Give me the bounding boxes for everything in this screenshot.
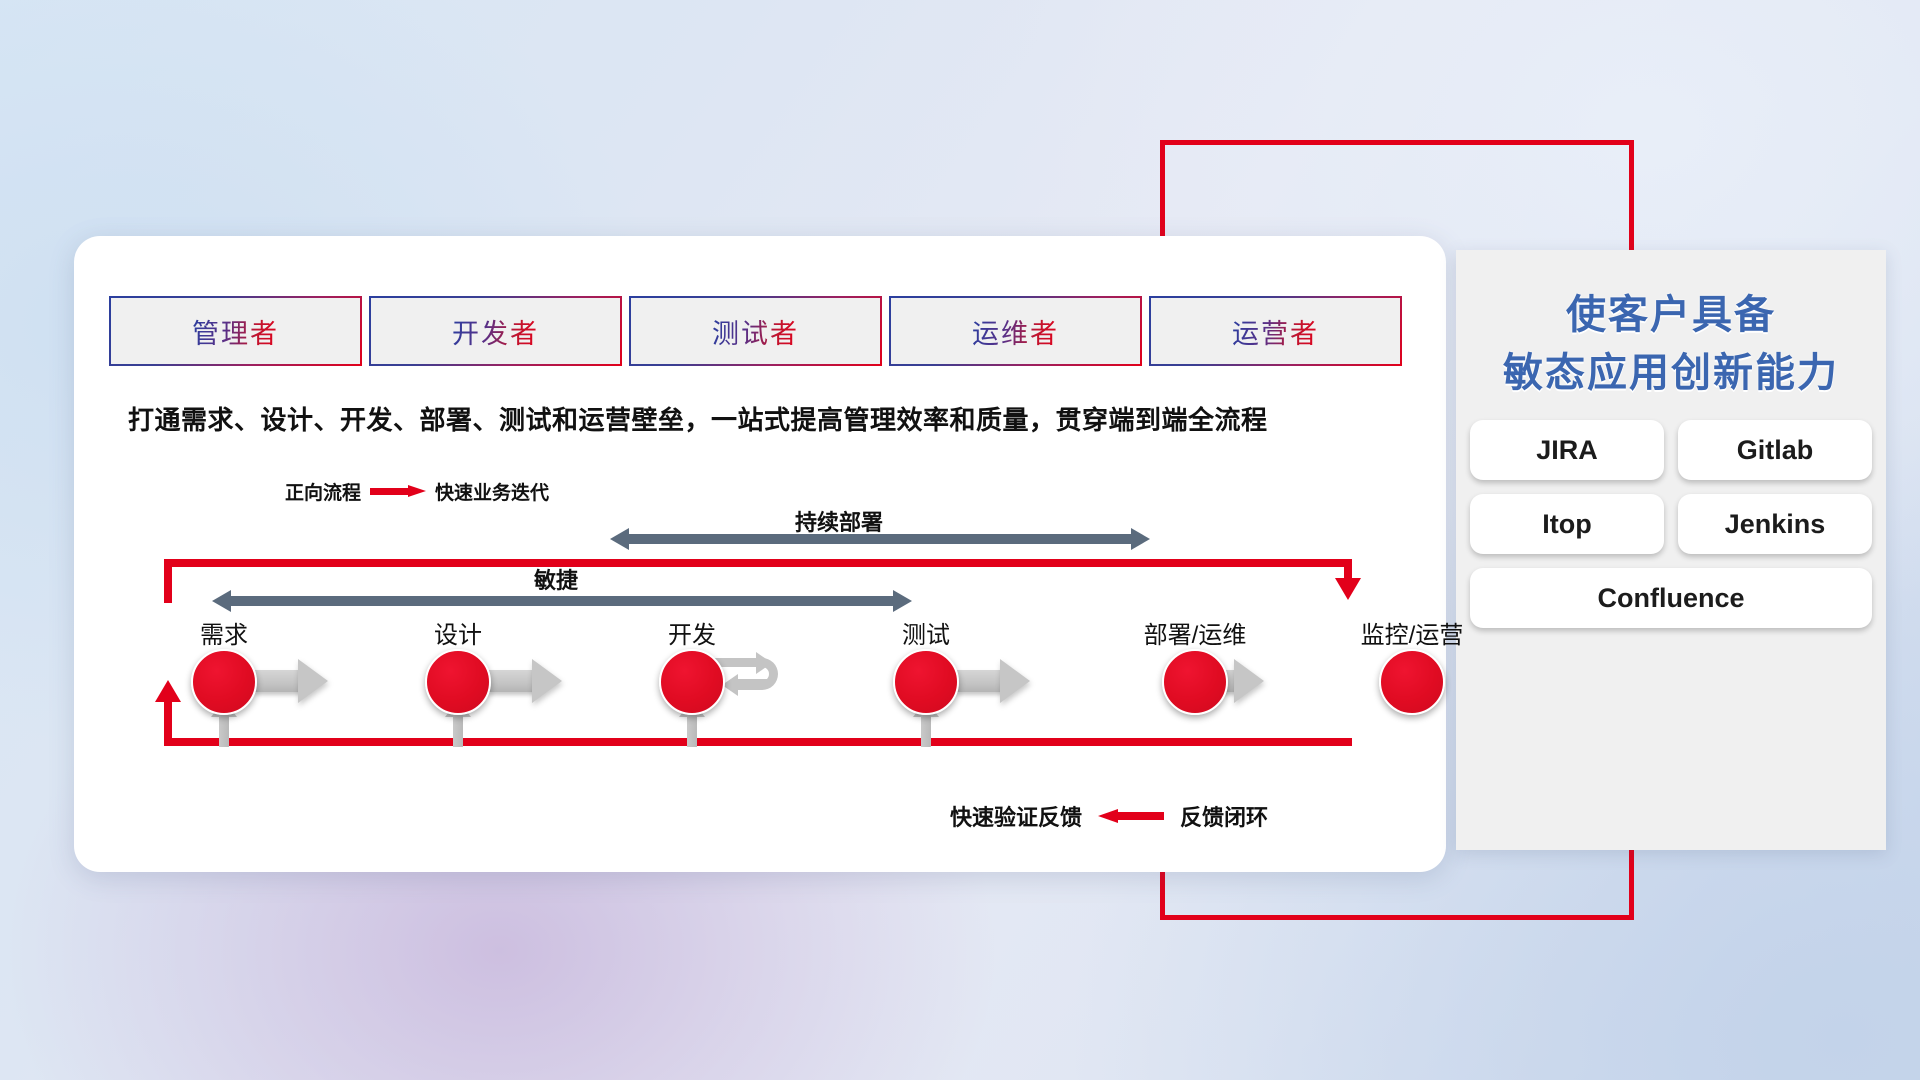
arrow-shaft (687, 713, 697, 747)
arrow-head-right (893, 590, 912, 612)
loop-bottom-line (164, 738, 1352, 746)
loop-arrowhead-up (155, 680, 181, 702)
arrow-head-right (1131, 528, 1150, 550)
forward-flow-legend: 正向流程 快速业务迭代 (285, 478, 549, 505)
flow-node-circle (1379, 649, 1445, 715)
flow-node-label: 需求 (200, 615, 248, 650)
arrow-shaft (219, 713, 229, 747)
role-label: 测试者 (712, 312, 799, 351)
role-label: 管理者 (192, 312, 279, 351)
role-box-developer[interactable]: 开发者 (371, 298, 620, 364)
feedback-loop-legend: 快速验证反馈 反馈闭环 (950, 800, 1268, 832)
arrow-bar (230, 596, 894, 606)
arrow-head-left (610, 528, 629, 550)
role-label: 运营者 (1232, 312, 1319, 351)
flow-node-circle (1162, 649, 1228, 715)
forward-flow-label: 正向流程 (285, 478, 361, 505)
arrow-bar (628, 534, 1132, 544)
panel-title-line1: 使客户具备 (1456, 282, 1886, 340)
arrow-body (488, 670, 534, 692)
gray-right-arrow-icon-2 (488, 659, 562, 703)
tool-button-confluence[interactable]: Confluence (1470, 568, 1872, 628)
loop-left-line-top (164, 559, 172, 603)
role-box-ops[interactable]: 运维者 (891, 298, 1140, 364)
arrow-tip (532, 659, 562, 703)
feedback-result-label: 快速验证反馈 (950, 800, 1082, 832)
u-turn-loop-icon (712, 650, 804, 716)
tool-button-jenkins[interactable]: Jenkins (1678, 494, 1872, 554)
red-bracket-frame-bottom (1160, 915, 1634, 920)
role-box-operator[interactable]: 运营者 (1151, 298, 1400, 364)
role-label: 运维者 (972, 312, 1059, 351)
forward-flow-result: 快速业务迭代 (435, 478, 549, 505)
arrow-tip (1234, 659, 1264, 703)
flow-node-label: 部署/运维 (1144, 615, 1247, 650)
double-headed-arrow-icon-agile (212, 590, 912, 612)
value-panel: 使客户具备 敏态应用创新能力 JIRA Gitlab Itop Jenkins … (1456, 250, 1886, 850)
role-label: 开发者 (452, 312, 539, 351)
flow-node-circle (893, 649, 959, 715)
red-left-arrow-icon (1098, 809, 1164, 824)
tool-button-itop[interactable]: Itop (1470, 494, 1664, 554)
role-box-tester[interactable]: 测试者 (631, 298, 880, 364)
arrow-body (956, 670, 1002, 692)
gray-right-arrow-icon-1 (254, 659, 328, 703)
flow-node-label: 设计 (434, 615, 482, 650)
red-right-arrow-icon (370, 485, 426, 498)
arrow-tip (1000, 659, 1030, 703)
tool-button-gitlab[interactable]: Gitlab (1678, 420, 1872, 480)
panel-title-line2: 敏态应用创新能力 (1456, 340, 1886, 398)
gray-right-arrow-icon-3 (956, 659, 1030, 703)
flow-node-label: 监控/运营 (1361, 615, 1464, 650)
loop-top-line (164, 559, 1352, 567)
description-text: 打通需求、设计、开发、部署、测试和运营壁垒，一站式提高管理效率和质量，贯穿端到端… (128, 400, 1428, 437)
tool-button-jira[interactable]: JIRA (1470, 420, 1664, 480)
arrow-shaft (921, 713, 931, 747)
tool-button-grid: JIRA Gitlab Itop Jenkins Confluence (1470, 420, 1872, 628)
feedback-loop-label: 反馈闭环 (1180, 800, 1268, 832)
role-box-manager[interactable]: 管理者 (111, 298, 360, 364)
flow-node-label: 开发 (668, 615, 716, 650)
loop-left-line-bottom (164, 700, 172, 746)
role-box-row: 管理者 开发者 测试者 运维者 运营者 (111, 298, 1400, 364)
arrow-tip (298, 659, 328, 703)
arrow-head-left (212, 590, 231, 612)
flow-node-circle (659, 649, 725, 715)
double-headed-arrow-icon-continuous-deploy (610, 528, 1150, 550)
flow-node-label: 测试 (902, 615, 950, 650)
arrow-body (254, 670, 300, 692)
loop-arrowhead-down (1335, 578, 1361, 600)
arrow-shaft (453, 713, 463, 747)
flow-node-circle (425, 649, 491, 715)
flow-node-circle (191, 649, 257, 715)
